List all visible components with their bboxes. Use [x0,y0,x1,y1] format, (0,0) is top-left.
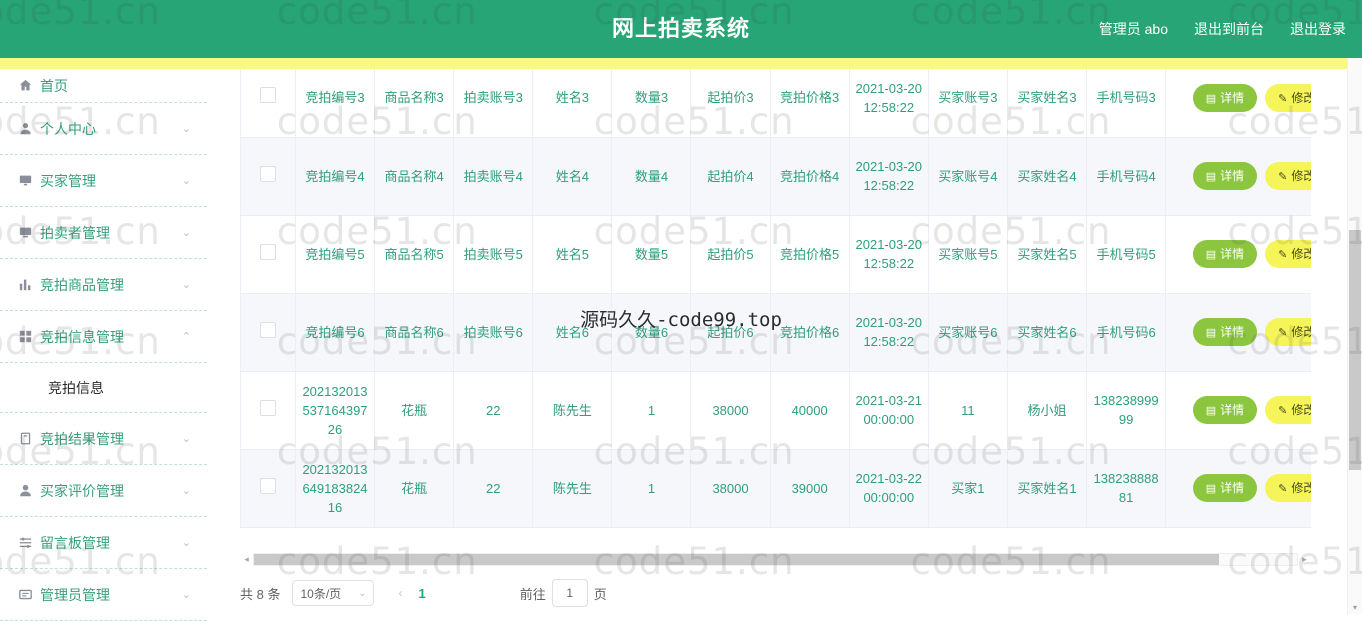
row-actions: ▤详情✎修改🗑删除 [1166,69,1311,137]
jumper-input[interactable]: 1 [552,579,588,607]
table-row: 竞拍编号5商品名称5拍卖账号5姓名5数量5起拍价5竞拍价格52021-03-20… [241,215,1312,293]
list-icon: ▤ [1206,249,1216,261]
cell-buyer-name: 买家姓名4 [1007,137,1086,215]
row-checkbox[interactable] [260,400,276,416]
cell-bid-price: 40000 [770,371,849,449]
cell-id: 竞拍编号5 [295,215,374,293]
chevron-down-icon[interactable]: ⌄ [179,278,191,291]
pencil-icon: ✎ [1278,327,1287,339]
sidebar-item-label: 首页 [36,76,191,96]
chevron-up-icon[interactable]: ⌃ [179,330,191,343]
edit-button[interactable]: ✎修改 [1265,240,1311,268]
row-checkbox[interactable] [260,244,276,260]
header-nav-admin[interactable]: 管理员 abo [1099,0,1168,58]
clipboard-icon [14,432,36,445]
cell-bid-price: 竞拍价格4 [770,137,849,215]
sidebar-subitem-auction-info[interactable]: 竞拍信息 [0,363,207,413]
cell-bid-price: 竞拍价格6 [770,293,849,371]
detail-button[interactable]: ▤详情 [1193,396,1257,424]
scroll-right-arrow-icon[interactable]: ▸ [1298,554,1311,565]
edit-button[interactable]: ✎修改 [1265,318,1311,346]
sidebar-item-label: 买家评价管理 [36,481,179,501]
cell-seller-account: 拍卖账号6 [454,293,533,371]
jumper-prefix-label: 前往 [520,584,546,603]
cell-goods: 商品名称6 [375,293,454,371]
cell-buyer-name: 买家姓名1 [1007,449,1086,527]
sidebar-item-label: 买家管理 [36,171,179,191]
row-checkbox[interactable] [260,478,276,494]
cell-goods: 商品名称3 [375,69,454,137]
cell-bid-price: 竞拍价格5 [770,215,849,293]
table-row: 竞拍编号6商品名称6拍卖账号6姓名6数量6起拍价6竞拍价格62021-03-20… [241,293,1312,371]
sidebar-item-label: 个人中心 [36,119,179,139]
chevron-down-icon[interactable]: ⌄ [179,122,191,135]
sidebar-item-label: 竞拍商品管理 [36,275,179,295]
cell-qty: 1 [612,371,691,449]
sidebar-item-label: 竞拍结果管理 [36,429,179,449]
cell-id: 20213201353716439726 [295,371,374,449]
sidebar-item-buyer-management[interactable]: 买家管理 ⌄ [0,155,207,207]
sidebar-item-auctioneer-management[interactable]: 拍卖者管理 ⌄ [0,207,207,259]
chevron-down-icon[interactable]: ⌄ [179,588,191,601]
cell-phone: 13823888881 [1087,449,1166,527]
cell-qty: 数量6 [612,293,691,371]
user-icon [14,122,36,135]
sidebar-item-label: 留言板管理 [36,533,179,553]
chevron-down-icon: ⌄ [358,588,366,599]
row-actions: ▤详情✎修改🗑删除 [1166,137,1311,215]
cell-buyer-name: 买家姓名6 [1007,293,1086,371]
hscroll-track[interactable] [253,553,1298,566]
row-checkbox-cell [241,69,296,137]
row-actions: ▤详情✎修改🗑删除 [1166,293,1311,371]
cell-buyer-name: 杨小姐 [1007,371,1086,449]
edit-button[interactable]: ✎修改 [1265,84,1311,112]
pencil-icon: ✎ [1278,171,1287,183]
chevron-down-icon[interactable]: ⌄ [179,226,191,239]
edit-button[interactable]: ✎修改 [1265,396,1311,424]
detail-button[interactable]: ▤详情 [1193,162,1257,190]
row-checkbox[interactable] [260,322,276,338]
cell-qty: 数量4 [612,137,691,215]
cell-buyer-account: 买家账号4 [928,137,1007,215]
cell-seller-account: 拍卖账号5 [454,215,533,293]
sidebar-item-home[interactable]: 首页 [0,69,207,103]
pagination: 共 8 条 10条/页 ⌄ ‹ 1 前往 1 页 [240,576,1320,610]
cell-buyer-account: 买家账号3 [928,69,1007,137]
row-checkbox[interactable] [260,166,276,182]
cell-goods: 花瓶 [375,371,454,449]
page-number-1[interactable]: 1 [418,586,425,601]
cell-time: 2021-03-21 00:00:00 [849,371,928,449]
header-nav: 管理员 abo 退出到前台 退出登录 [1099,0,1346,58]
cell-time: 2021-03-22 00:00:00 [849,449,928,527]
table-horizontal-scrollbar[interactable]: ◂ ▸ [240,551,1311,567]
row-checkbox-cell [241,137,296,215]
cell-seller-account: 22 [454,449,533,527]
detail-button[interactable]: ▤详情 [1193,318,1257,346]
cell-start-price: 起拍价3 [691,69,770,137]
table-row: 竞拍编号4商品名称4拍卖账号4姓名4数量4起拍价4竞拍价格42021-03-20… [241,137,1312,215]
list-icon: ▤ [1206,483,1216,495]
cell-bid-price: 39000 [770,449,849,527]
accent-bar [0,58,1362,69]
page-vertical-scrollbar[interactable]: ▾ [1347,58,1362,614]
monitor-icon [14,174,36,187]
sidebar: 首页 个人中心 ⌄ 买家管理 ⌄ 拍卖者管理 ⌄ 竞拍商品管理 ⌄ 竞拍信息管理 [0,69,207,614]
cell-phone: 13823899999 [1087,371,1166,449]
table-row: 竞拍编号3商品名称3拍卖账号3姓名3数量3起拍价3竞拍价格32021-03-20… [241,69,1312,137]
cell-goods: 商品名称5 [375,215,454,293]
cell-qty: 1 [612,449,691,527]
cell-buyer-account: 买家账号5 [928,215,1007,293]
detail-button[interactable]: ▤详情 [1193,84,1257,112]
scroll-down-arrow-icon[interactable]: ▾ [1348,603,1362,612]
pencil-icon: ✎ [1278,483,1287,495]
cell-time: 2021-03-20 12:58:22 [849,137,928,215]
row-checkbox-cell [241,293,296,371]
cell-id: 20213201364918382416 [295,449,374,527]
sidebar-item-auction-result-management[interactable]: 竞拍结果管理 ⌄ [0,413,207,465]
vscroll-thumb[interactable] [1349,230,1361,470]
sidebar-item-auction-goods-management[interactable]: 竞拍商品管理 ⌄ [0,259,207,311]
cell-buyer-name: 买家姓名3 [1007,69,1086,137]
cell-time: 2021-03-20 12:58:22 [849,215,928,293]
list-icon: ▤ [1206,405,1216,417]
cell-qty: 数量3 [612,69,691,137]
cell-name: 姓名6 [533,293,612,371]
pencil-icon: ✎ [1278,405,1287,417]
cell-phone: 手机号码5 [1087,215,1166,293]
cell-id: 竞拍编号6 [295,293,374,371]
edit-button[interactable]: ✎修改 [1265,162,1311,190]
pencil-icon: ✎ [1278,93,1287,105]
jumper-suffix-label: 页 [594,584,607,603]
page-size-value: 10条/页 [300,585,341,602]
sidebar-item-message-board-management[interactable]: 留言板管理 ⌄ [0,517,207,569]
row-actions: ▤详情✎修改🗑删除 [1166,449,1311,527]
cell-name: 姓名5 [533,215,612,293]
detail-button[interactable]: ▤详情 [1193,474,1257,502]
cell-buyer-account: 买家1 [928,449,1007,527]
detail-button[interactable]: ▤详情 [1193,240,1257,268]
list-icon: ▤ [1206,93,1216,105]
scroll-left-arrow-icon[interactable]: ◂ [240,554,253,565]
row-checkbox-cell [241,449,296,527]
row-checkbox-cell [241,371,296,449]
sidebar-item-admin-management[interactable]: 管理员管理 ⌄ [0,569,207,621]
sidebar-item-auction-info-management[interactable]: 竞拍信息管理 ⌃ [0,311,207,363]
cell-seller-account: 拍卖账号4 [454,137,533,215]
cell-time: 2021-03-20 12:58:22 [849,293,928,371]
chevron-down-icon[interactable]: ⌄ [179,536,191,549]
cell-name: 陈先生 [533,371,612,449]
table-row: 20213201353716439726花瓶22陈先生1380004000020… [241,371,1312,449]
sidebar-subitem-label: 竞拍信息 [48,378,104,398]
prev-page-button[interactable]: ‹ [398,586,402,600]
home-icon [14,79,36,92]
list-icon: ▤ [1206,327,1216,339]
sidebar-item-personal-center[interactable]: 个人中心 ⌄ [0,103,207,155]
auction-info-table-scroll-area[interactable]: 竞拍编号3商品名称3拍卖账号3姓名3数量3起拍价3竞拍价格32021-03-20… [240,69,1311,553]
id-card-icon [14,588,36,601]
cell-start-price: 38000 [691,449,770,527]
cell-name: 姓名4 [533,137,612,215]
row-checkbox[interactable] [260,87,276,103]
cell-start-price: 起拍价5 [691,215,770,293]
edit-button[interactable]: ✎修改 [1265,474,1311,502]
sidebar-item-label: 竞拍信息管理 [36,327,179,347]
pencil-icon: ✎ [1278,249,1287,261]
cell-time: 2021-03-20 12:58:22 [849,69,928,137]
pagination-total: 共 8 条 [240,584,280,603]
sidebar-item-buyer-review-management[interactable]: 买家评价管理 ⌄ [0,465,207,517]
cell-qty: 数量5 [612,215,691,293]
cell-phone: 手机号码6 [1087,293,1166,371]
page-size-select[interactable]: 10条/页 ⌄ [292,580,374,606]
row-actions: ▤详情✎修改🗑删除 [1166,215,1311,293]
user-filled-icon [14,484,36,497]
cell-goods: 花瓶 [375,449,454,527]
cell-seller-account: 拍卖账号3 [454,69,533,137]
row-checkbox-cell [241,215,296,293]
chart-icon [14,278,36,291]
chevron-down-icon[interactable]: ⌄ [179,432,191,445]
cell-buyer-account: 11 [928,371,1007,449]
cell-phone: 手机号码4 [1087,137,1166,215]
grid-icon [14,330,36,343]
page-jumper: 前往 1 页 [520,579,607,607]
monitor-icon [14,226,36,239]
cell-goods: 商品名称4 [375,137,454,215]
cell-phone: 手机号码3 [1087,69,1166,137]
cell-start-price: 38000 [691,371,770,449]
cell-id: 竞拍编号3 [295,69,374,137]
header-nav-exit-to-front[interactable]: 退出到前台 [1194,0,1264,58]
cell-buyer-name: 买家姓名5 [1007,215,1086,293]
row-actions: ▤详情✎修改🗑删除 [1166,371,1311,449]
filter-icon [14,536,36,549]
chevron-down-icon[interactable]: ⌄ [179,484,191,497]
cell-id: 竞拍编号4 [295,137,374,215]
cell-buyer-account: 买家账号6 [928,293,1007,371]
cell-name: 姓名3 [533,69,612,137]
cell-start-price: 起拍价6 [691,293,770,371]
list-icon: ▤ [1206,171,1216,183]
cell-name: 陈先生 [533,449,612,527]
hscroll-thumb[interactable] [254,554,1219,565]
app-header: 网上拍卖系统 管理员 abo 退出到前台 退出登录 [0,0,1362,58]
cell-seller-account: 22 [454,371,533,449]
cell-bid-price: 竞拍价格3 [770,69,849,137]
sidebar-item-label: 拍卖者管理 [36,223,179,243]
table-row: 20213201364918382416花瓶22陈先生1380003900020… [241,449,1312,527]
sidebar-item-label: 管理员管理 [36,585,179,605]
header-nav-logout[interactable]: 退出登录 [1290,0,1346,58]
auction-info-table: 竞拍编号3商品名称3拍卖账号3姓名3数量3起拍价3竞拍价格32021-03-20… [240,69,1311,528]
cell-start-price: 起拍价4 [691,137,770,215]
chevron-down-icon[interactable]: ⌄ [179,174,191,187]
